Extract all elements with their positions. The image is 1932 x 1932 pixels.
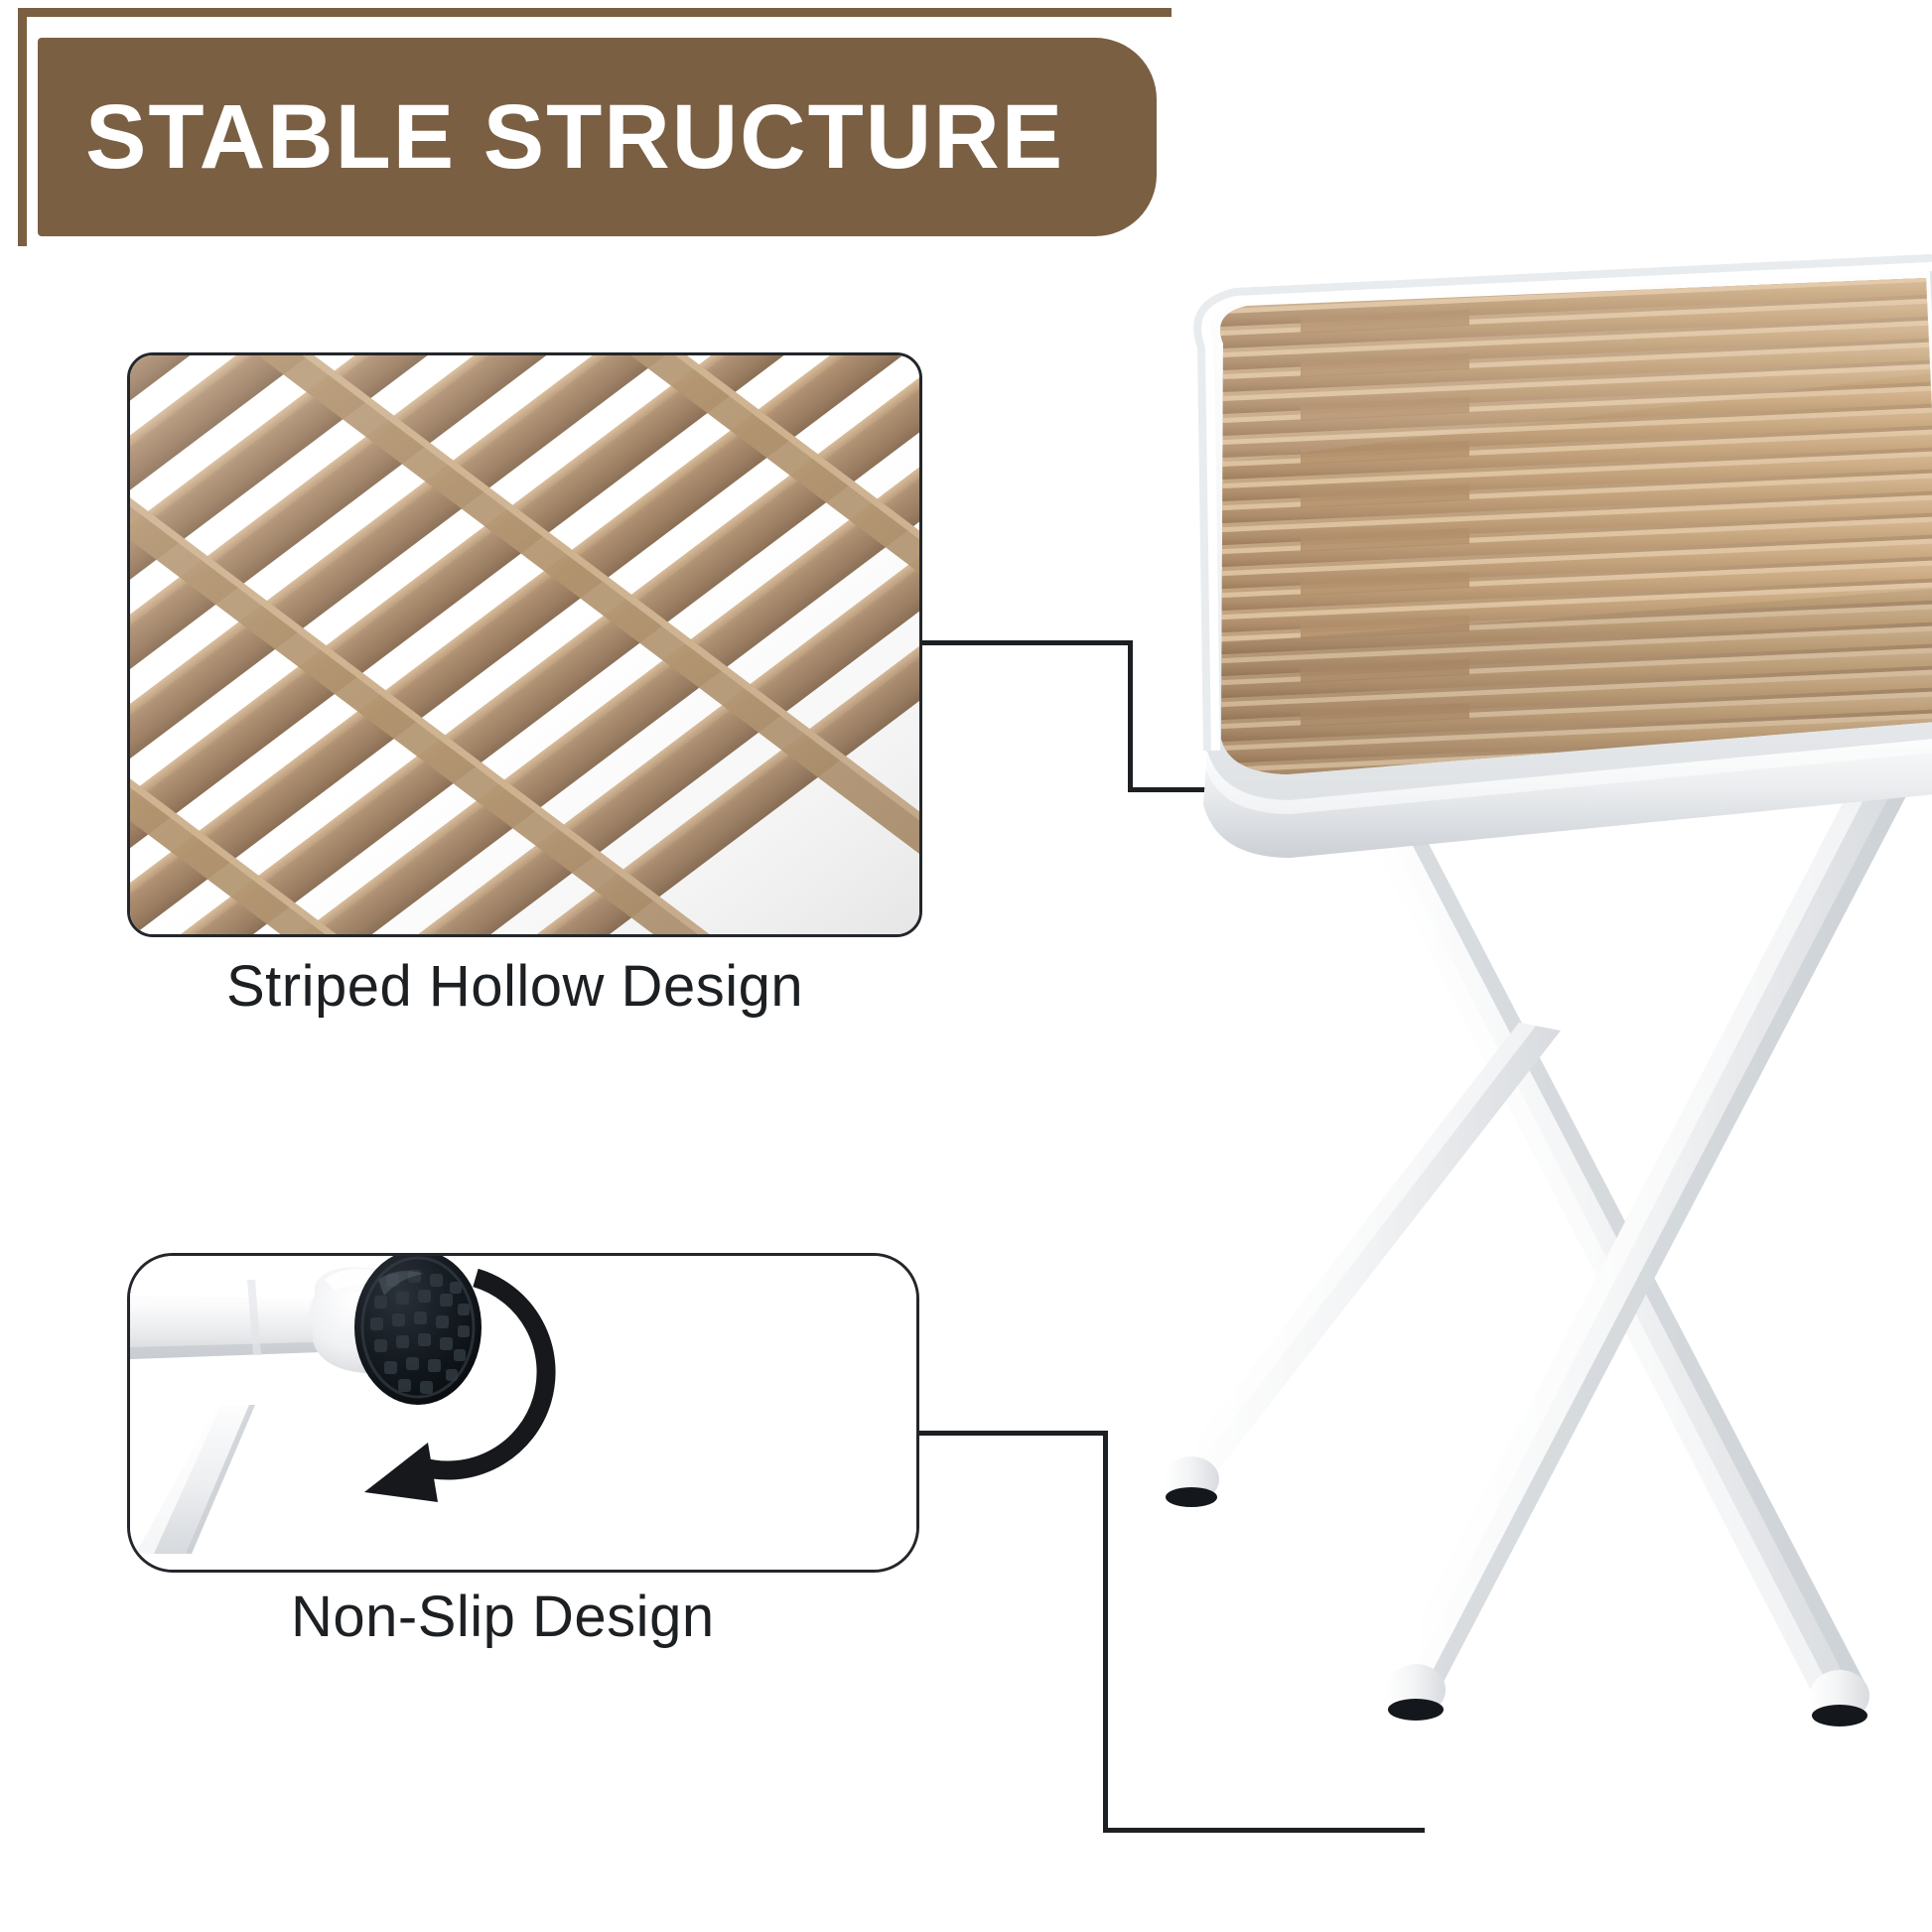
- infographic-canvas: STABLE STRUCTURE: [0, 0, 1932, 1932]
- feature-panel-non-slip: [127, 1253, 919, 1573]
- feature-panel-striped-hollow: [127, 352, 922, 937]
- header-banner: STABLE STRUCTURE: [38, 38, 1157, 236]
- striped-hollow-image: [130, 355, 919, 934]
- table-leg-left-strut: [1197, 1221, 1652, 1843]
- table-top-slats: [1191, 268, 1932, 804]
- feature-caption-non-slip: Non-Slip Design: [291, 1584, 715, 1650]
- product-folding-table: [1052, 248, 1932, 1916]
- non-slip-image: [130, 1256, 916, 1570]
- header-bracket-left-line: [18, 8, 27, 246]
- page-title: STABLE STRUCTURE: [85, 91, 1064, 183]
- non-slip-cap: [354, 1256, 482, 1405]
- feature-caption-striped-hollow: Striped Hollow Design: [226, 953, 803, 1020]
- header-bracket-top-line: [18, 8, 1172, 17]
